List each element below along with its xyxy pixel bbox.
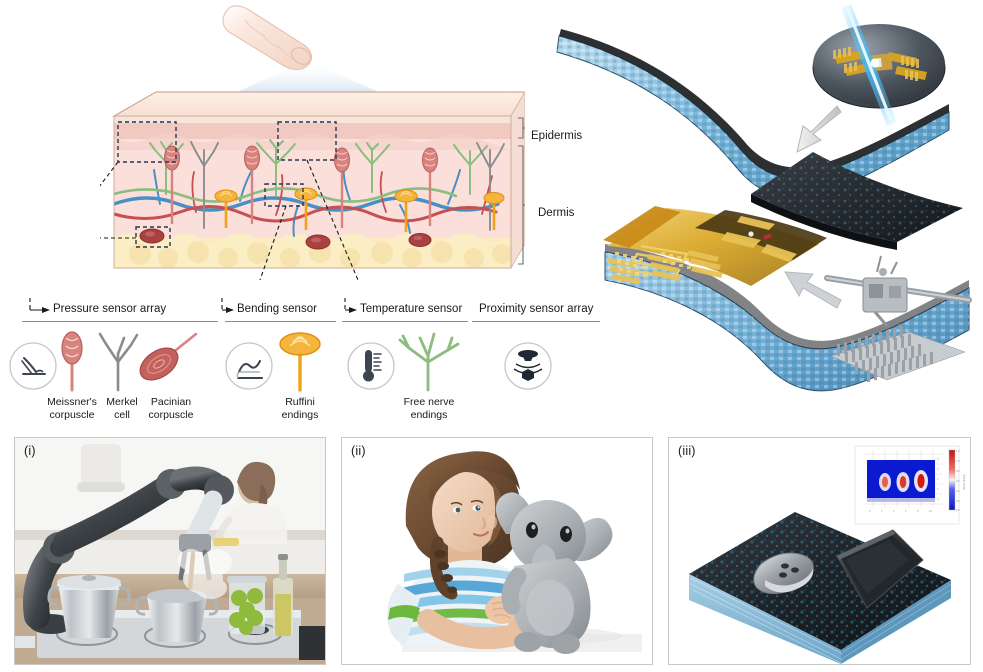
sensor-label-temperature: Temperature sensor (360, 303, 462, 315)
legend-rule-pressure (22, 321, 218, 322)
e-skin-device-panel (545, 0, 983, 430)
svg-text:0.8: 0.8 (956, 469, 960, 473)
wafer-to-film-arrow (797, 106, 841, 152)
svg-text:0.2: 0.2 (956, 499, 960, 503)
ruffini-endings-glyph (280, 333, 320, 390)
figure-root: Epidermis Dermis Pressure sensor array B… (0, 0, 983, 672)
svg-text:1.2: 1.2 (956, 449, 960, 453)
sensor-label-bending: Bending sensor (237, 303, 317, 315)
pressure-mapping-panel: 024 6810 024 68 1.21.0 0.80.6 0.40.2 0.0… (668, 437, 971, 665)
human-robot-interaction-panel: (ii) (341, 437, 653, 665)
bending-sensor-icon (226, 343, 272, 389)
svg-text:1.0: 1.0 (956, 459, 960, 463)
svg-text:0.0: 0.0 (956, 508, 960, 512)
robotic-cooking-panel: (i) (14, 437, 326, 665)
pressure-sensor-icon (10, 343, 56, 389)
skin-tissue-block (100, 88, 525, 278)
receptor-name-free-nerve: Free nerve endings (390, 396, 468, 421)
free-nerve-endings-glyph (400, 334, 458, 390)
laser-patterned-wafer-inset (813, 4, 945, 126)
legend-rule-temperature (342, 321, 468, 322)
lime-jar (227, 576, 267, 635)
pacinian-corpuscle-glyph (134, 334, 196, 387)
svg-text:0.6: 0.6 (956, 479, 960, 483)
meissner-corpuscle-glyph (62, 332, 82, 390)
sensor-legend: Pressure sensor array Bending sensor Tem… (0, 296, 600, 436)
sensor-label-pressure: Pressure sensor array (53, 303, 166, 315)
application-panels: (i) (0, 437, 983, 672)
receptor-name-ruffini: Ruffini endings (266, 396, 334, 421)
legend-rule-bending (225, 321, 336, 322)
svg-text:Stress (kPa): Stress (kPa) (962, 475, 966, 490)
panel-tag-ii: (ii) (351, 444, 366, 458)
thermometer-icon (348, 343, 394, 389)
pressure-heatmap-inset: 024 6810 024 68 1.21.0 0.80.6 0.40.2 0.0… (855, 446, 966, 524)
panel-tag-iii: (iii) (678, 444, 696, 458)
receptor-name-pacinian: Pacinian corpuscle (133, 396, 209, 421)
merkel-cell-glyph (100, 334, 137, 390)
fingertip-illustration (215, 2, 395, 92)
skin-cross-section-panel: Epidermis Dermis (0, 0, 580, 300)
panel-tag-i: (i) (24, 444, 36, 458)
svg-text:0.4: 0.4 (956, 489, 960, 493)
